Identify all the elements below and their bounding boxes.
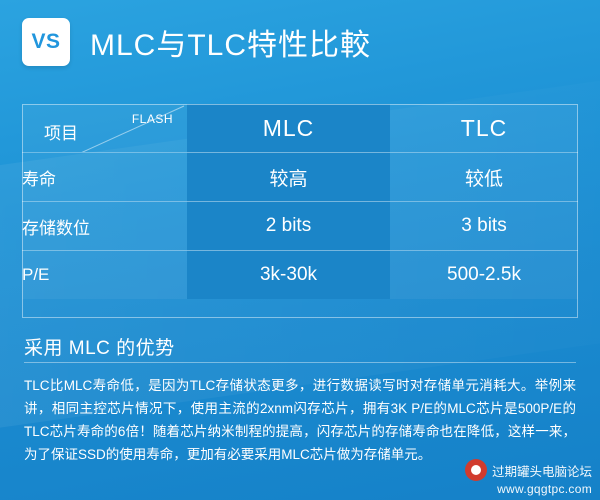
row-tlc-pe: 500-2.5k — [390, 251, 578, 300]
table-header-tlc: TLC — [390, 104, 578, 153]
vs-badge: VS — [22, 18, 70, 66]
row-label-lifespan: 寿命 — [22, 153, 187, 202]
vs-badge-label: VS — [22, 18, 70, 66]
comparison-table: FLASH 项目 MLC TLC 寿命 较高 较低 存储数位 2 bits 3 … — [22, 104, 578, 299]
table-header-mlc: MLC — [187, 104, 390, 153]
section-divider — [24, 362, 576, 363]
row-tlc-lifespan: 较低 — [390, 153, 578, 202]
section-title: 采用 MLC 的优势 — [24, 333, 175, 360]
row-mlc-pe: 3k-30k — [187, 251, 390, 300]
table-row: 寿命 较高 较低 — [22, 153, 578, 202]
row-label-bits: 存储数位 — [22, 202, 187, 251]
table-corner-cell: FLASH 项目 — [22, 104, 187, 153]
infographic-page: VS MLC与TLC特性比較 FLASH 项目 MLC — [0, 0, 600, 500]
forum-logo-icon — [465, 459, 487, 481]
row-mlc-lifespan: 较高 — [187, 153, 390, 202]
watermark: 过期罐头电脑论坛 www.gqgtpc.com — [465, 459, 592, 496]
header: VS MLC与TLC特性比較 — [22, 18, 580, 76]
table-row: 存储数位 2 bits 3 bits — [22, 202, 578, 251]
table-corner-flash-label: FLASH — [132, 112, 173, 126]
watermark-name: 过期罐头电脑论坛 — [492, 461, 592, 480]
row-mlc-bits: 2 bits — [187, 202, 390, 251]
section-body-text: TLC比MLC寿命低，是因为TLC存储状态更多，进行数据读写时对存储单元消耗大。… — [24, 374, 576, 466]
watermark-url: www.gqgtpc.com — [465, 482, 592, 496]
table-corner-item-label: 项目 — [44, 119, 78, 144]
table-header-row: FLASH 项目 MLC TLC — [22, 104, 578, 153]
table-row: P/E 3k-30k 500-2.5k — [22, 251, 578, 300]
row-tlc-bits: 3 bits — [390, 202, 578, 251]
page-title: MLC与TLC特性比較 — [90, 20, 371, 64]
row-label-pe: P/E — [22, 251, 187, 300]
